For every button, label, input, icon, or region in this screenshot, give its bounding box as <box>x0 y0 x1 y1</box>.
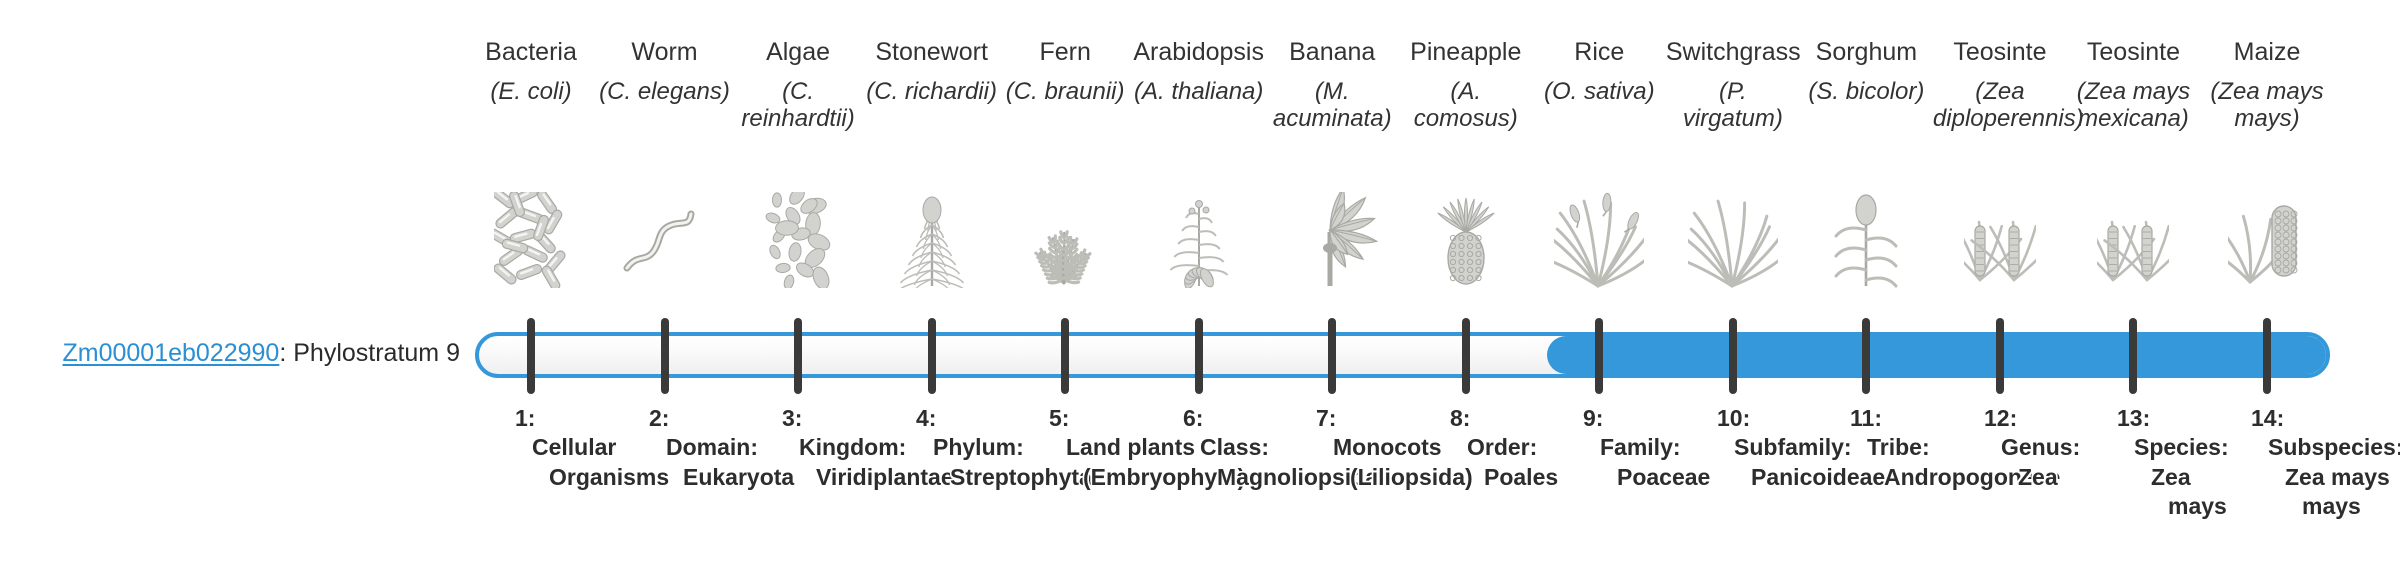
species-common-name: Teosinte <box>1933 38 2067 67</box>
rank-label-line: 12: <box>1984 404 2080 433</box>
maize-icon <box>2207 192 2327 288</box>
rank-label-line: 14: <box>2251 404 2400 433</box>
phylostratigraphy-figure: Zm00001eb022990: Phylostratum 9 Bacteria… <box>0 0 2400 580</box>
rank-label-text: 12:Genus:Zea <box>1984 404 2080 492</box>
species-column-algae: Algae(C. reinhardtii) <box>731 38 865 133</box>
rank-label-line: 8: <box>1450 404 1558 433</box>
species-common-name: Algae <box>731 38 865 67</box>
rice-icon <box>1539 192 1659 288</box>
species-column-pineapple: Pineapple(A. comosus) <box>1399 38 1533 133</box>
algae-icon <box>738 192 858 288</box>
stonewort-icon <box>872 192 992 288</box>
species-scientific-name: (Zea mays mays) <box>2200 79 2334 133</box>
species-column-arabidopsis: Arabidopsis(A. thaliana) <box>1132 38 1266 106</box>
species-column-bacteria: Bacteria(E. coli) <box>464 38 598 106</box>
teosinte-mexicana-icon <box>2073 192 2193 288</box>
rank-label-line: mays <box>2251 492 2400 521</box>
phylostratum-tick-10[interactable] <box>1729 318 1737 394</box>
bacteria-icon <box>471 192 591 288</box>
rank-label-line: Genus: <box>1984 433 2080 462</box>
rank-label-line: Zea mays <box>2251 463 2400 492</box>
rank-label-text: 13:Species:Zeamays <box>2117 404 2229 522</box>
species-scientific-name: (E. coli) <box>464 79 598 106</box>
phylostratum-value-text: Phylostratum 9 <box>293 339 460 367</box>
banana-icon <box>1272 192 1392 288</box>
species-column-worm: Worm(C. elegans) <box>598 38 732 106</box>
rank-label-line: Cellular <box>515 433 669 462</box>
rank-label-line: Subspecies: <box>2251 433 2400 462</box>
species-column-teosinte: Teosinte(Zea mays mexicana) <box>2066 38 2200 133</box>
species-common-name: Banana <box>1265 38 1399 67</box>
rank-label-line: 9: <box>1583 404 1710 433</box>
species-common-name: Arabidopsis <box>1132 38 1266 67</box>
species-scientific-name: (S. bicolor) <box>1799 79 1933 106</box>
gene-label-separator: : <box>279 339 293 367</box>
species-scientific-name: (C. elegans) <box>598 79 732 106</box>
rank-label-line: Domain: <box>649 433 794 462</box>
species-scientific-name: (Zea mays mexicana) <box>2066 79 2200 133</box>
rank-label-text: 2:Domain:Eukaryota <box>649 404 794 492</box>
gene-id-link[interactable]: Zm00001eb022990 <box>62 339 279 367</box>
species-scientific-name: (C. richardii) <box>865 79 999 106</box>
species-common-name: Pineapple <box>1399 38 1533 67</box>
rank-label-line: Zea <box>1984 463 2080 492</box>
rank-label-line: 13: <box>2117 404 2229 433</box>
species-scientific-name: (Zea diploperennis) <box>1933 79 2067 133</box>
rank-label-text: 9:Family:Poaceae <box>1583 404 1710 492</box>
rank-label-text: 1:CellularOrganisms <box>515 404 669 492</box>
species-scientific-name: (P. virgatum) <box>1666 79 1800 133</box>
species-column-maize: Maize(Zea mays mays) <box>2200 38 2334 133</box>
rank-label-line: Order: <box>1450 433 1558 462</box>
species-scientific-name: (M. acuminata) <box>1265 79 1399 133</box>
species-scientific-name: (C. braunii) <box>998 79 1132 106</box>
rank-label-line: mays <box>2117 492 2229 521</box>
species-common-name: Worm <box>598 38 732 67</box>
species-column-sorghum: Sorghum(S. bicolor) <box>1799 38 1933 106</box>
species-column-teosinte: Teosinte(Zea diploperennis) <box>1933 38 2067 133</box>
rank-label-line: Species: <box>2117 433 2229 462</box>
species-scientific-name: (O. sativa) <box>1532 79 1666 106</box>
taxonomy-rank-label-list: 1:CellularOrganisms2:Domain:Eukaryota3:K… <box>466 404 2351 580</box>
rank-label-line: Family: <box>1583 433 1710 462</box>
species-column-list: Bacteria(E. coli) <box>466 38 2351 308</box>
switchgrass-icon <box>1673 192 1793 288</box>
species-common-name: Teosinte <box>2066 38 2200 67</box>
species-column-rice: Rice(O. sativa) <box>1532 38 1666 106</box>
species-common-name: Switchgrass <box>1666 38 1800 67</box>
species-common-name: Bacteria <box>464 38 598 67</box>
rank-label-line: Eukaryota <box>649 463 794 492</box>
species-scientific-name: (C. reinhardtii) <box>731 79 865 133</box>
species-column-switchgrass: Switchgrass(P. virgatum) <box>1666 38 1800 133</box>
species-common-name: Stonewort <box>865 38 999 67</box>
rank-label-text: 14:Subspecies:Zea maysmays <box>2251 404 2400 522</box>
species-column-stonewort: Stonewort(C. richardii) <box>865 38 999 106</box>
arabidopsis-icon <box>1139 192 1259 288</box>
species-common-name: Rice <box>1532 38 1666 67</box>
rank-label-line: 2: <box>649 404 794 433</box>
rank-label-line: 1: <box>515 404 669 433</box>
gene-phylostratum-label: Zm00001eb022990: Phylostratum 9 <box>40 340 460 368</box>
rank-label-line: Organisms <box>515 463 669 492</box>
species-common-name: Sorghum <box>1799 38 1933 67</box>
phylostratum-tick-14[interactable] <box>2263 318 2271 394</box>
rank-label-text: 8:Order:Poales <box>1450 404 1558 492</box>
sorghum-icon <box>1806 192 1926 288</box>
pineapple-icon <box>1406 192 1526 288</box>
rank-label-line: Poales <box>1450 463 1558 492</box>
phylostratum-tick-9[interactable] <box>1595 318 1603 394</box>
species-scientific-name: (A. comosus) <box>1399 79 1533 133</box>
worm-icon <box>605 192 725 288</box>
rank-label-line: Poaceae <box>1583 463 1710 492</box>
species-common-name: Fern <box>998 38 1132 67</box>
species-column-banana: Banana(M. acuminata) <box>1265 38 1399 133</box>
species-column-fern: Fern(C. braunii) <box>998 38 1132 106</box>
fern-icon <box>1005 192 1125 288</box>
phylostratum-tick-13[interactable] <box>2129 318 2137 394</box>
species-scientific-name: (A. thaliana) <box>1132 79 1266 106</box>
species-common-name: Maize <box>2200 38 2334 67</box>
phylostratum-tick-1[interactable] <box>527 318 535 394</box>
rank-label-line: Zea <box>2117 463 2229 492</box>
